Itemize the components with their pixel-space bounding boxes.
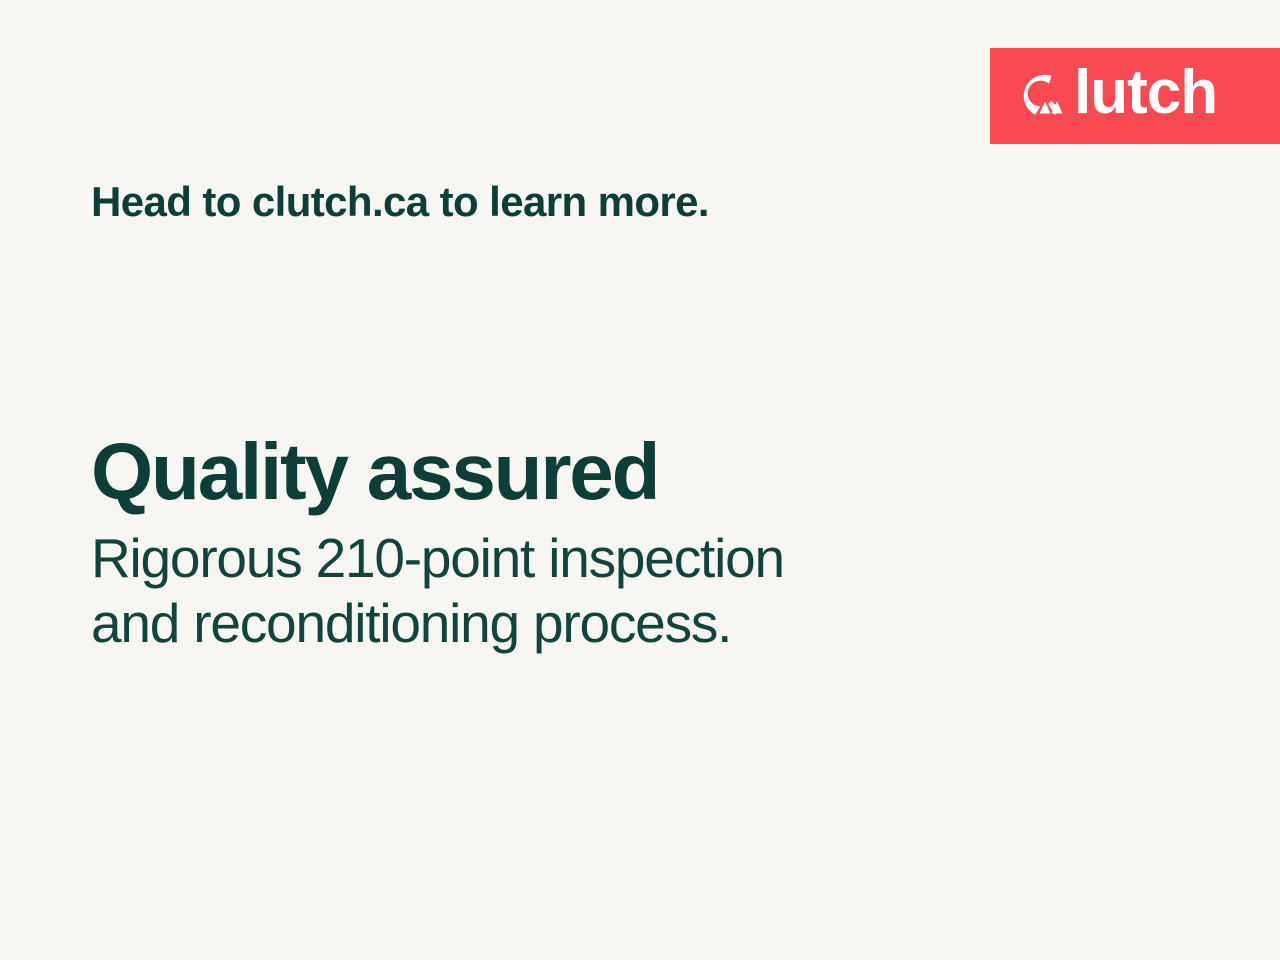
content-block: Quality assured Rigorous 210-point inspe… bbox=[91, 432, 991, 656]
clutch-c-mark-icon bbox=[1022, 73, 1068, 119]
brand-banner: lutch bbox=[990, 48, 1280, 144]
subheadline: Rigorous 210-point inspection and recond… bbox=[91, 526, 991, 656]
kicker-text: Head to clutch.ca to learn more. bbox=[91, 178, 709, 225]
page-title: Quality assured bbox=[91, 432, 991, 512]
subheadline-line-1: Rigorous 210-point inspection bbox=[91, 526, 991, 591]
subheadline-line-2: and reconditioning process. bbox=[91, 591, 991, 656]
clutch-logo: lutch bbox=[1022, 65, 1217, 127]
brand-wordmark: lutch bbox=[1074, 62, 1217, 124]
slide-canvas: lutch Head to clutch.ca to learn more. Q… bbox=[0, 0, 1280, 960]
